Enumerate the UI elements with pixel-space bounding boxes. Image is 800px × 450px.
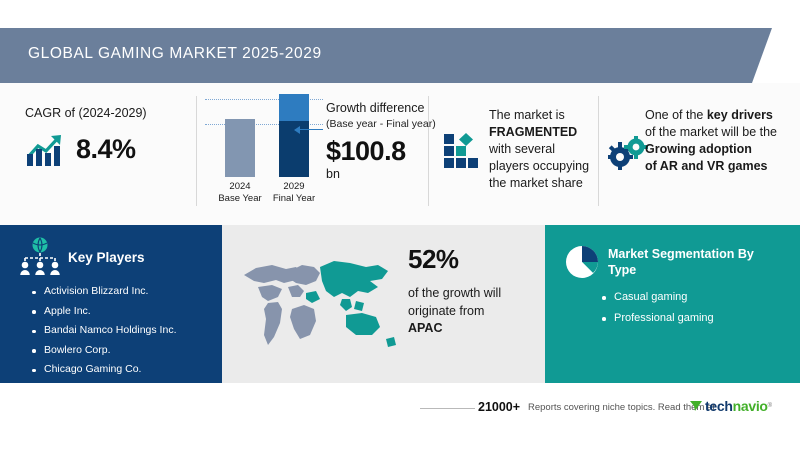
bar-label-2024: 2024 Base Year — [210, 181, 270, 205]
fragmented-line1: The market is — [489, 108, 565, 122]
region-line2: originate from — [408, 304, 484, 318]
drivers-bold3: of AR and VR games — [645, 159, 767, 173]
bar-label-2029: 2029 Final Year — [264, 181, 324, 205]
technavio-arrow-icon — [690, 400, 703, 412]
bar-year-2024: 2024 — [229, 181, 250, 192]
growth-callout: Growth difference (Base year - Final yea… — [326, 101, 436, 132]
drivers-bold1: key drivers — [707, 108, 773, 122]
bar-2029-growth-segment — [279, 94, 309, 121]
divider-left — [196, 96, 197, 206]
squares-grid-icon — [443, 133, 483, 169]
bar-2024 — [225, 119, 255, 177]
fragmented-line3: players occupying — [489, 159, 589, 173]
region-bold: APAC — [408, 321, 443, 335]
footer-divider — [420, 408, 475, 409]
growth-unit: bn — [326, 167, 340, 181]
region-percentage: 52% — [408, 244, 459, 275]
list-item: Casual gaming — [600, 287, 714, 308]
drivers-line2: of the market will be the — [645, 125, 777, 139]
world-map-icon — [238, 253, 398, 362]
drivers-text: One of the key drivers of the market wil… — [645, 107, 797, 175]
technavio-logo[interactable]: technavio® — [690, 398, 772, 414]
growth-callout-title: Growth difference — [326, 101, 424, 115]
key-players-list: Activision Blizzard Inc. Apple Inc. Band… — [30, 282, 177, 380]
footer-report-count: 21000+ — [478, 400, 520, 414]
logo-text-navio: navio — [733, 398, 768, 414]
gears-icon — [608, 136, 650, 170]
list-item: Chicago Gaming Co. — [30, 360, 177, 380]
region-line1: of the growth will — [408, 286, 501, 300]
page-title: GLOBAL GAMING MARKET 2025-2029 — [28, 45, 322, 63]
region-text: of the growth will originate from APAC — [408, 285, 528, 338]
footer-tagline: Reports covering niche topics. Read them… — [528, 402, 715, 413]
growth-value: $100.8 — [326, 136, 406, 167]
growth-bar-chart: 2024 Base Year 2029 Final Year — [205, 95, 330, 205]
list-item: Bandai Namco Holdings Inc. — [30, 321, 177, 341]
pie-chart-icon — [563, 243, 601, 281]
list-item: Bowlero Corp. — [30, 341, 177, 361]
globe-network-people-icon — [18, 237, 62, 277]
footer — [0, 383, 800, 450]
bar-2029 — [279, 94, 309, 177]
logo-text-tech: tech — [705, 398, 733, 414]
fragmented-bold: FRAGMENTED — [489, 125, 577, 139]
list-item: Activision Blizzard Inc. — [30, 282, 177, 302]
fragmented-line4: the market share — [489, 176, 583, 190]
fragmented-line2: with several — [489, 142, 555, 156]
callout-arrow-line — [297, 129, 323, 130]
drivers-bold2: Growing adoption — [645, 142, 752, 156]
list-item: Apple Inc. — [30, 302, 177, 322]
drivers-line1: One of the — [645, 108, 707, 122]
segmentation-title: Market Segmentation By Type — [608, 246, 758, 278]
fragmented-text: The market is FRAGMENTED with several pl… — [489, 107, 614, 192]
segmentation-list: Casual gaming Professional gaming — [600, 287, 714, 329]
list-item: Professional gaming — [600, 308, 714, 329]
cagr-label: CAGR of (2024-2029) — [25, 106, 147, 120]
key-players-title: Key Players — [68, 250, 145, 265]
bar-year-2029: 2029 — [283, 181, 304, 192]
bar-caption-2024: Base Year — [218, 193, 261, 204]
logo-trademark: ® — [768, 403, 772, 409]
bar-chart-growth-icon — [25, 132, 69, 168]
bar-caption-2029: Final Year — [273, 193, 315, 204]
growth-callout-subtitle: (Base year - Final year) — [326, 118, 436, 130]
infographic-canvas: GLOBAL GAMING MARKET 2025-2029 CAGR of (… — [0, 0, 800, 450]
cagr-value: 8.4% — [76, 134, 136, 165]
callout-arrow-head — [294, 126, 300, 134]
